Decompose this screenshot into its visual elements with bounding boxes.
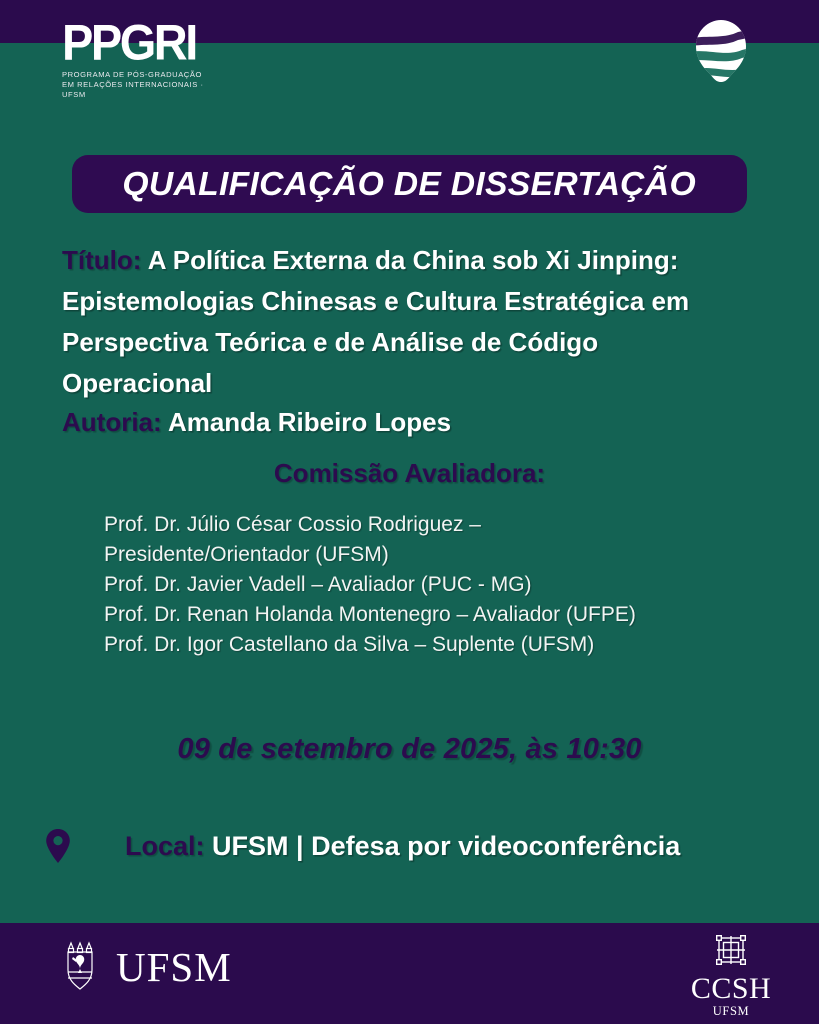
- ufsm-wordmark: UFSM: [116, 943, 232, 991]
- committee-member-2: Prof. Dr. Javier Vadell – Avaliador (PUC…: [104, 570, 712, 600]
- location-text: Local: UFSM | Defesa por videoconferênci…: [125, 831, 680, 862]
- event-type-label: QUALIFICAÇÃO DE DISSERTAÇÃO: [123, 165, 697, 203]
- author-name: Amanda Ribeiro Lopes: [168, 407, 451, 437]
- title-line-1: Título: A Política Externa da China sob …: [62, 240, 722, 281]
- committee-member-3: Prof. Dr. Renan Holanda Montenegro – Ava…: [104, 600, 712, 630]
- location-pin-icon: [45, 828, 71, 864]
- committee-member-4: Prof. Dr. Igor Castellano da Silva – Sup…: [104, 630, 712, 660]
- ufsm-crest-icon: [60, 938, 100, 996]
- location-value: UFSM | Defesa por videoconferência: [212, 831, 680, 861]
- author-label: Autoria:: [62, 407, 162, 437]
- poster-root: PPGRI PROGRAMA DE PÓS-GRADUAÇÃO EM RELAÇ…: [0, 0, 819, 1024]
- event-type-banner: QUALIFICAÇÃO DE DISSERTAÇÃO: [72, 155, 747, 213]
- location-row: Local: UFSM | Defesa por videoconferênci…: [45, 828, 785, 864]
- committee-list: Prof. Dr. Júlio César Cossio Rodriguez –…: [104, 510, 712, 660]
- committee-member-1-line-2: Presidente/Orientador (UFSM): [104, 540, 712, 570]
- ccsh-subtitle: UFSM: [690, 1004, 772, 1018]
- ccsh-wordmark: CCSH: [690, 974, 772, 1004]
- ufsm-logo: UFSM: [60, 938, 232, 996]
- date-time: 09 de setembro de 2025, às 10:30: [0, 733, 819, 766]
- ccsh-mark-icon: [714, 954, 748, 971]
- committee-heading: Comissão Avaliadora:: [0, 458, 819, 489]
- ppgri-wordmark: PPGRI: [62, 18, 262, 67]
- title-block: Título: A Política Externa da China sob …: [62, 240, 722, 404]
- title-line-3: Perspectiva Teórica e de Análise de Códi…: [62, 322, 722, 363]
- ccsh-logo: CCSH UFSM: [690, 933, 772, 1018]
- location-label: Local:: [125, 831, 205, 861]
- title-label: Título:: [62, 245, 141, 275]
- ppgri-subtitle: PROGRAMA DE PÓS-GRADUAÇÃO EM RELAÇÕES IN…: [62, 70, 212, 100]
- title-line-4: Operacional: [62, 363, 722, 404]
- title-line-2: Epistemologias Chinesas e Cultura Estrat…: [62, 281, 722, 322]
- title-text-1: A Política Externa da China sob Xi Jinpi…: [148, 245, 679, 275]
- author-row: Autoria: Amanda Ribeiro Lopes: [62, 404, 762, 440]
- globe-icon: [688, 18, 754, 84]
- committee-member-1: Prof. Dr. Júlio César Cossio Rodriguez –…: [104, 510, 712, 570]
- committee-member-1-line-1: Prof. Dr. Júlio César Cossio Rodriguez –: [104, 510, 712, 540]
- ppgri-logo: PPGRI PROGRAMA DE PÓS-GRADUAÇÃO EM RELAÇ…: [62, 18, 262, 100]
